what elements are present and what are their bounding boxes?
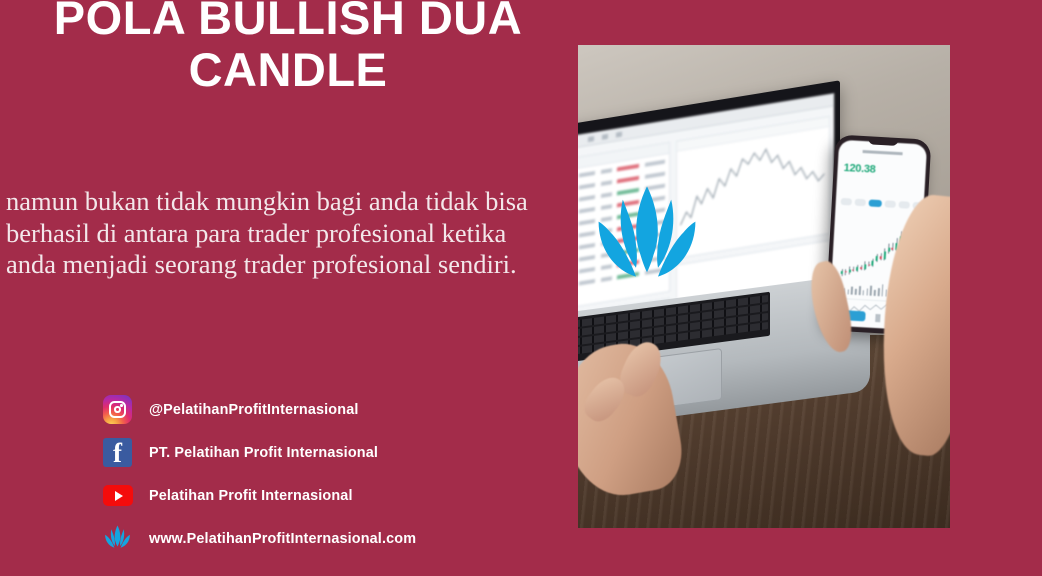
youtube-icon — [102, 480, 133, 511]
instagram-icon — [102, 394, 133, 425]
lotus-logo-icon — [102, 523, 133, 554]
phone-price-value: 120.38 — [843, 162, 875, 176]
social-row-facebook[interactable]: f PT. Pelatihan Profit Internasional — [102, 431, 572, 474]
social-label-website: www.PelatihanProfitInternasional.com — [149, 531, 416, 547]
social-label-youtube: Pelatihan Profit Internasional — [149, 488, 353, 504]
facebook-icon: f — [102, 437, 133, 468]
phone-nav-item-1 — [875, 314, 880, 322]
hero-photo: 120.38 — [578, 45, 950, 528]
social-row-instagram[interactable]: @PelatihanProfitInternasional — [102, 388, 572, 431]
phone-timeframe-chips[interactable] — [841, 198, 919, 209]
social-row-youtube[interactable]: Pelatihan Profit Internasional — [102, 474, 572, 517]
poster-canvas: POLA BULLISH DUA CANDLE namun bukan tida… — [0, 0, 1042, 576]
lotus-logo-icon — [592, 181, 702, 293]
page-title: POLA BULLISH DUA CANDLE — [18, 0, 558, 96]
social-label-facebook: PT. Pelatihan Profit Internasional — [149, 445, 378, 461]
social-label-instagram: @PelatihanProfitInternasional — [149, 402, 359, 418]
social-row-website[interactable]: www.PelatihanProfitInternasional.com — [102, 517, 572, 560]
social-links-list: @PelatihanProfitInternasional f PT. Pela… — [102, 388, 572, 560]
body-paragraph: namun bukan tidak mungkin bagi anda tida… — [6, 186, 554, 281]
